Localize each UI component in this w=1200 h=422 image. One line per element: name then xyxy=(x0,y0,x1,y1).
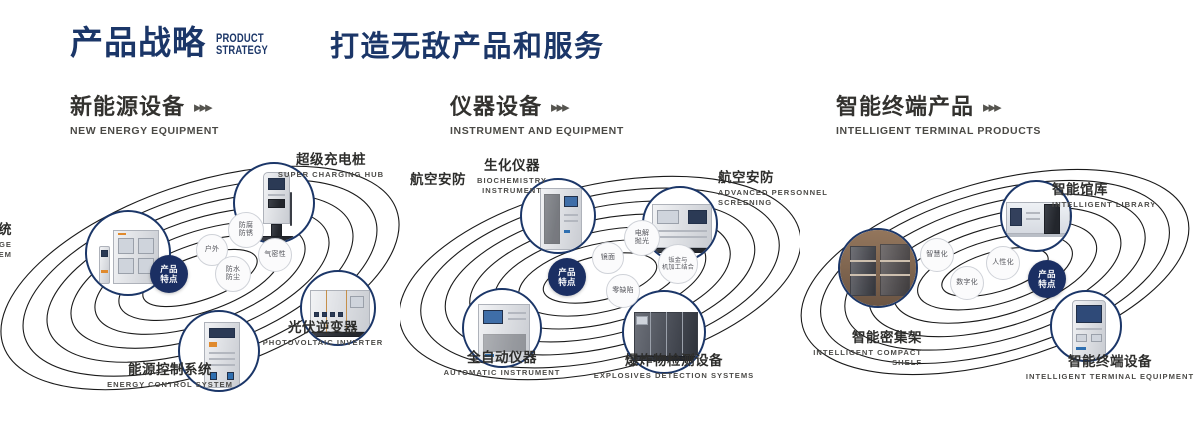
caption-intelligent-terminal-equipment: 智能终端设备 INTELLIGENT TERMINAL EQUIPMENT xyxy=(1020,354,1200,382)
chevrons-icon: ▸▸▸ xyxy=(194,100,211,115)
section-title-en: INSTRUMENT AND EQUIPMENT xyxy=(450,125,624,137)
caption-energy-storage-system: 储能系统 ENERGY STORAGE SYSTEM xyxy=(0,222,12,260)
chevrons-icon: ▸▸▸ xyxy=(551,100,568,115)
caption-cn: 超级充电桩 xyxy=(246,152,416,168)
node-intelligent-compact-shelf[interactable] xyxy=(838,228,918,308)
caption-en: INTELLIGENT COMPACT SHELF xyxy=(722,348,922,368)
feature-bubble-airtight[interactable]: 气密性 xyxy=(258,238,292,272)
feature-bubble-zero-defect[interactable]: 零缺陷 xyxy=(606,274,640,308)
caption-energy-control-system: 能源控制系统 ENERGY CONTROL SYSTEM xyxy=(85,362,255,390)
caption-en: INTELLIGENT TERMINAL EQUIPMENT xyxy=(1020,372,1200,382)
core-node-product-features[interactable]: 产品 特点 xyxy=(548,258,586,296)
section-title-en: INTELLIGENT TERMINAL PRODUCTS xyxy=(836,125,1041,137)
caption-en: INTELLIGENT LIBRARY xyxy=(1052,200,1200,210)
section-title-text: 新能源设备 xyxy=(70,94,185,119)
header-title-cn: 产品战略 xyxy=(70,26,206,59)
header-subtitle: 打造无敌产品和服务 xyxy=(330,33,605,62)
section-title-text: 仪器设备 xyxy=(450,94,542,119)
feature-bubble-humanized[interactable]: 人性化 xyxy=(986,246,1020,280)
panel-intelligent-terminal: 产品 特点 智慧化 数字化 人性化 智能馆库 INTELLIGENT LIBRA… xyxy=(800,150,1200,422)
section-title-cn: 仪器设备▸▸▸ xyxy=(450,96,624,118)
caption-photovoltaic-inverter: 光伏逆变器 PHOTOVOLTAIC INVERTER xyxy=(238,320,408,348)
feature-bubble-smart[interactable]: 智慧化 xyxy=(920,238,954,272)
feature-bubble-electropolishing[interactable]: 电解 抛光 xyxy=(624,220,660,256)
caption-cn: 能源控制系统 xyxy=(85,362,255,378)
caption-super-charging-hub: 超级充电桩 SUPER CHARGING HUB xyxy=(246,152,416,180)
caption-cn: 生化仪器 xyxy=(442,158,582,174)
caption-cn: 全自动仪器 xyxy=(422,350,582,366)
product-photo-terminal-equipment xyxy=(1052,292,1120,360)
panel-instrument: 产品 特点 镜面 电解 抛光 钣金与 机加工结合 零缺陷 航空安防 生化仪器 B… xyxy=(400,150,800,422)
feature-bubble-digital[interactable]: 数字化 xyxy=(950,266,984,300)
caption-en: BIOCHEMISTRY INSTRUMENT xyxy=(442,176,582,196)
core-node-product-features[interactable]: 产品 特点 xyxy=(150,255,188,293)
caption-intelligent-library: 智能馆库 INTELLIGENT LIBRARY xyxy=(1052,182,1200,210)
header-title-en: PRODUCT STRATEGY xyxy=(216,33,268,57)
caption-en: ENERGY STORAGE SYSTEM xyxy=(0,240,12,260)
caption-intelligent-compact-shelf: 智能密集架 INTELLIGENT COMPACT SHELF xyxy=(722,330,922,368)
caption-cn: 智能终端设备 xyxy=(1020,354,1200,370)
caption-cn: 光伏逆变器 xyxy=(238,320,408,336)
caption-cn: 智能密集架 xyxy=(722,330,922,346)
section-title-cn: 智能终端产品▸▸▸ xyxy=(836,96,1041,118)
poster-canvas: 产品战略 PRODUCT STRATEGY 打造无敌产品和服务 新能源设备▸▸▸… xyxy=(0,0,1200,422)
feature-bubble-sheetmetal-machining[interactable]: 钣金与 机加工结合 xyxy=(658,244,698,284)
caption-en: EXPLOSIVES DETECTION SYSTEMS xyxy=(584,371,764,381)
section-title-text: 智能终端产品 xyxy=(836,94,974,119)
section-heading-terminal: 智能终端产品▸▸▸ INTELLIGENT TERMINAL PRODUCTS xyxy=(836,96,1041,137)
panel-new-energy: 产品 特点 户外 防腐 防锈 防水 防尘 气密性 储能系统 ENERGY STO… xyxy=(0,150,400,422)
chevrons-icon: ▸▸▸ xyxy=(983,100,1000,115)
poster-header: 产品战略 PRODUCT STRATEGY xyxy=(70,26,279,59)
caption-cn: 储能系统 xyxy=(0,222,12,238)
section-title-cn: 新能源设备▸▸▸ xyxy=(70,96,219,118)
caption-en: AUTOMATIC INSTRUMENT xyxy=(422,368,582,378)
caption-cn: 智能馆库 xyxy=(1052,182,1200,198)
caption-en: ENERGY CONTROL SYSTEM xyxy=(85,380,255,390)
section-heading-new-energy: 新能源设备▸▸▸ NEW ENERGY EQUIPMENT xyxy=(70,96,219,137)
caption-en: SUPER CHARGING HUB xyxy=(246,170,416,180)
node-intelligent-terminal-equipment[interactable] xyxy=(1050,290,1122,362)
feature-bubble-anticorrosion[interactable]: 防腐 防锈 xyxy=(228,212,264,248)
section-heading-instrument: 仪器设备▸▸▸ INSTRUMENT AND EQUIPMENT xyxy=(450,96,624,137)
feature-bubble-mirror-finish[interactable]: 镜面 xyxy=(592,242,624,274)
core-node-product-features[interactable]: 产品 特点 xyxy=(1028,260,1066,298)
caption-biochemistry-instrument: 生化仪器 BIOCHEMISTRY INSTRUMENT xyxy=(442,158,582,196)
section-title-en: NEW ENERGY EQUIPMENT xyxy=(70,125,219,137)
product-photo-compact-shelf xyxy=(840,230,916,306)
feature-bubble-waterproof[interactable]: 防水 防尘 xyxy=(215,256,251,292)
caption-en: PHOTOVOLTAIC INVERTER xyxy=(238,338,408,348)
caption-automatic-instrument: 全自动仪器 AUTOMATIC INSTRUMENT xyxy=(422,350,582,378)
